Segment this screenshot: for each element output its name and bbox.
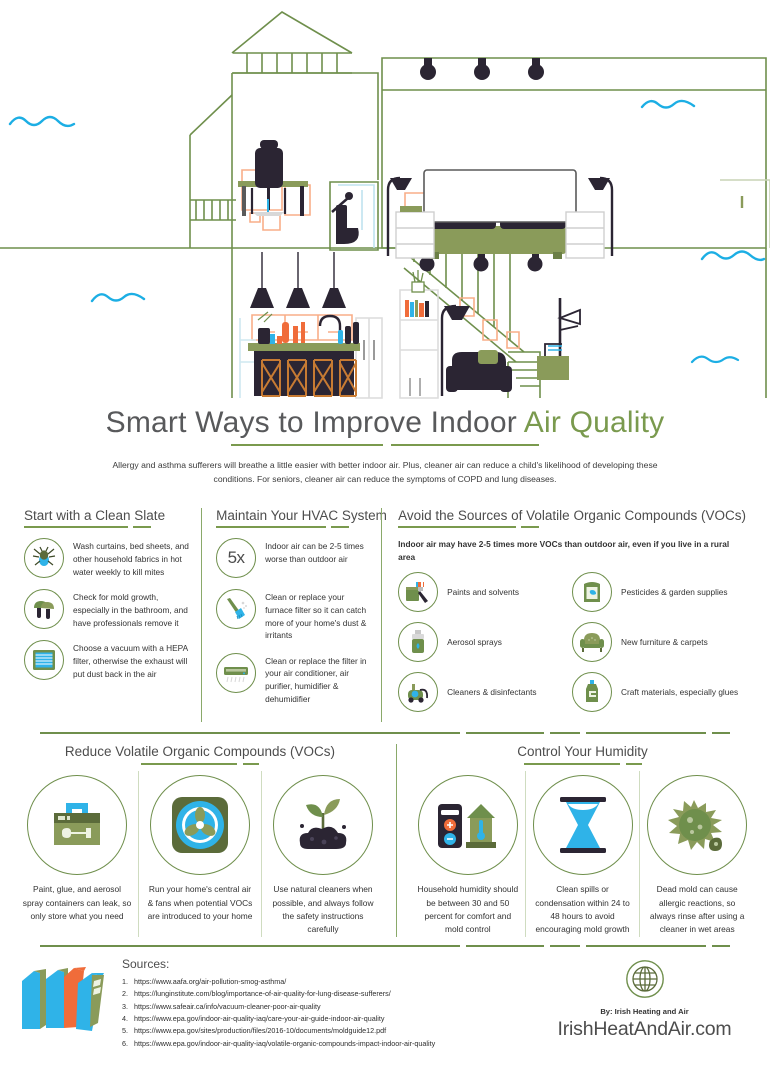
voc-sources-heading: Avoid the Sources of Volatile Organic Co…: [398, 508, 746, 523]
source-item[interactable]: 5.https://www.epa.gov/sites/production/f…: [122, 1025, 537, 1037]
source-item[interactable]: 4.https://www.epa.gov/indoor-air-quality…: [122, 1013, 537, 1025]
card-text: Paint, glue, and aerosol spray container…: [22, 883, 132, 923]
list-item-text: Wash curtains, bed sheets, and other hou…: [73, 538, 189, 578]
source-item[interactable]: 6.https://www.epa.gov/indoor-air-quality…: [122, 1038, 537, 1050]
section-voc-sources: Avoid the Sources of Volatile Organic Co…: [381, 508, 746, 722]
source-url: https://www.epa.gov/sites/production/fil…: [134, 1026, 386, 1035]
hvac-heading: Maintain Your HVAC System: [216, 508, 367, 523]
list-item-text: Cleaners & disinfectants: [447, 686, 536, 698]
mold-spore-icon: [647, 775, 747, 875]
list-item: Craft materials, especially glues: [572, 672, 746, 712]
source-url: https://lunginstitute.com/blog/importanc…: [134, 989, 391, 998]
source-item[interactable]: 2.https://lunginstitute.com/blog/importa…: [122, 988, 537, 1000]
five-x-text: 5x: [228, 548, 245, 568]
list-item: Check for mold growth, especially in the…: [24, 589, 189, 629]
page-title: Smart Ways to Improve Indoor Air Quality: [0, 406, 770, 440]
glue-bottle-icon: [572, 672, 612, 712]
clean-slate-rule: [24, 526, 189, 528]
section-humidity: Control Your Humidity: [396, 744, 754, 937]
voc-sources-rule: [398, 526, 746, 528]
armchair-icon: [572, 622, 612, 662]
list-item: Choose a vacuum with a HEPA filter, othe…: [24, 640, 189, 680]
card-text: Household humidity should be between 30 …: [417, 883, 519, 937]
voc-sources-lead: Indoor air may have 2-5 times more VOCs …: [398, 538, 746, 564]
card-text: Run your home's central air & fans when …: [145, 883, 255, 923]
source-item[interactable]: 1.https://www.aafa.org/air-pollution-smo…: [122, 976, 537, 988]
list-item-text: Clean or replace your furnace filter so …: [265, 589, 367, 641]
list-item-text: Pesticides & garden supplies: [621, 586, 728, 598]
aerosol-spray-icon: [398, 622, 438, 662]
source-url: https://www.epa.gov/indoor-air-quality-i…: [134, 1014, 384, 1023]
list-item-text: Indoor air can be 2-5 times worse than o…: [265, 538, 367, 565]
top-sections: Start with a Clean Slate Wash curtains, …: [0, 508, 770, 722]
list-item-text: Aerosol sprays: [447, 636, 502, 648]
reduce-voc-rule: [16, 763, 384, 765]
card-text: Dead mold can cause allergic reactions, …: [646, 883, 748, 937]
title-underline: [0, 444, 770, 446]
source-url: https://www.safeair.ca/info/vacuum-clean…: [134, 1002, 321, 1011]
list-item: Paints and solvents: [398, 572, 572, 612]
brand-block: By: Irish Heating and Air IrishHeatAndAi…: [537, 957, 752, 1041]
page-title-accent: Air Quality: [524, 406, 665, 439]
list-item: Aerosol sprays: [398, 622, 572, 662]
vacuum-cleaner-icon: [398, 672, 438, 712]
footer: Sources: 1.https://www.aafa.org/air-poll…: [0, 947, 770, 1050]
page-subtitle: Allergy and asthma sufferers will breath…: [105, 458, 665, 486]
humidity-heading: Control Your Humidity: [411, 744, 754, 759]
list-item: Clean or replace your furnace filter so …: [216, 589, 367, 641]
sources-label: Sources:: [122, 957, 537, 971]
list-item-text: Choose a vacuum with a HEPA filter, othe…: [73, 640, 189, 680]
broom-icon: [216, 589, 256, 629]
list-item-text: Craft materials, especially glues: [621, 686, 738, 698]
list-item-text: New furniture & carpets: [621, 636, 708, 648]
card-text: Use natural cleaners when possible, and …: [268, 883, 378, 937]
list-item: Clean or replace the filter in your air …: [216, 653, 367, 705]
list-item-text: Check for mold growth, especially in the…: [73, 589, 189, 629]
list-item: Pesticides & garden supplies: [572, 572, 746, 612]
list-item: 5x Indoor air can be 2-5 times worse tha…: [216, 538, 367, 578]
five-x-label: 5x: [216, 538, 256, 578]
list-item: Cleaners & disinfectants: [398, 672, 572, 712]
list-item: Wash curtains, bed sheets, and other hou…: [24, 538, 189, 578]
section-divider-upper: [0, 732, 770, 734]
reduce-voc-heading: Reduce Volatile Organic Compounds (VOCs): [16, 744, 384, 759]
air-conditioner-icon: [216, 653, 256, 693]
list-item-text: Clean or replace the filter in your air …: [265, 653, 367, 705]
card-hourglass: Clean spills or condensation within 24 t…: [525, 771, 640, 937]
hvac-rule: [216, 526, 367, 528]
pesticide-bag-icon: [572, 572, 612, 612]
card-thermostat: Household humidity should be between 30 …: [411, 771, 525, 937]
toolbox-icon: [27, 775, 127, 875]
section-clean-slate: Start with a Clean Slate Wash curtains, …: [24, 508, 201, 722]
card-plant: Use natural cleaners when possible, and …: [261, 771, 384, 937]
card-mold: Dead mold can cause allergic reactions, …: [639, 771, 754, 937]
house-cutaway-illustration: [0, 0, 770, 400]
thermostat-phone-icon: [418, 775, 518, 875]
paint-can-brush-icon: [398, 572, 438, 612]
byline: By: Irish Heating and Air: [537, 1007, 752, 1016]
page-title-main: Smart Ways to Improve Indoor: [106, 406, 524, 439]
card-toolbox: Paint, glue, and aerosol spray container…: [16, 771, 138, 937]
hepa-filter-icon: [24, 640, 64, 680]
source-url: https://www.epa.gov/indoor-air-quality-i…: [134, 1039, 435, 1048]
website-domain: IrishHeatAndAir.com: [537, 1018, 752, 1041]
sources-list: Sources: 1.https://www.aafa.org/air-poll…: [118, 957, 537, 1050]
section-reduce-voc: Reduce Volatile Organic Compounds (VOCs)…: [16, 744, 396, 937]
card-fan: Run your home's central air & fans when …: [138, 771, 261, 937]
humidity-rule: [411, 763, 754, 765]
list-item-text: Paints and solvents: [447, 586, 519, 598]
dust-mite-icon: [24, 538, 64, 578]
section-divider-lower: [0, 945, 770, 947]
source-item[interactable]: 3.https://www.safeair.ca/info/vacuum-cle…: [122, 1001, 537, 1013]
list-item: New furniture & carpets: [572, 622, 746, 662]
bottom-sections: Reduce Volatile Organic Compounds (VOCs)…: [0, 744, 770, 937]
fan-ventilation-icon: [150, 775, 250, 875]
page-title-block: Smart Ways to Improve Indoor Air Quality: [0, 406, 770, 446]
hourglass-icon: [533, 775, 633, 875]
voc-sources-grid: Paints and solvents Pesticides & garden …: [398, 572, 746, 722]
globe-icon: [625, 959, 665, 999]
card-text: Clean spills or condensation within 24 t…: [532, 883, 634, 937]
clean-slate-heading: Start with a Clean Slate: [24, 508, 189, 523]
mold-mushroom-icon: [24, 589, 64, 629]
plant-sprout-soil-icon: [273, 775, 373, 875]
source-url: https://www.aafa.org/air-pollution-smog-…: [134, 977, 286, 986]
section-hvac: Maintain Your HVAC System 5x Indoor air …: [201, 508, 381, 722]
book-stack-icon: [18, 957, 118, 1040]
